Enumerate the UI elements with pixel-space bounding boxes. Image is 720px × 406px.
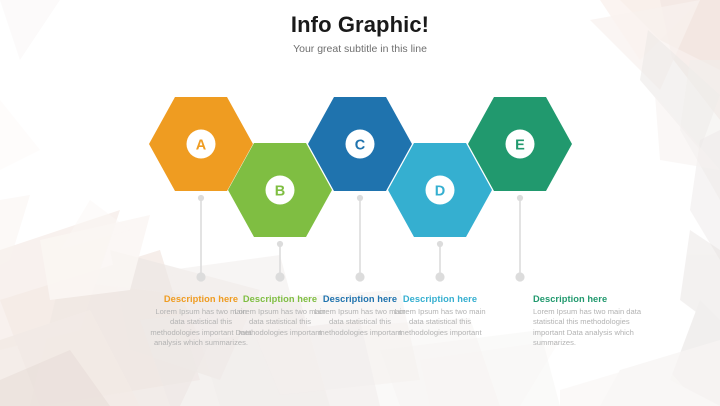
description-group: Description here Lorem Ipsum has two mai… [0, 293, 720, 373]
connector-dot-bottom-c [355, 272, 364, 281]
description-body-e: Lorem Ipsum has two main data statistica… [533, 307, 646, 349]
hex-badge-letter-b: B [275, 184, 285, 200]
hex-badge-letter-d: D [435, 184, 445, 200]
header: Info Graphic! Your great subtitle in thi… [0, 12, 720, 56]
hex-badge-letter-a: A [196, 138, 207, 154]
connector-dot-top-c [357, 195, 363, 201]
connector-dot-bottom-a [196, 272, 205, 281]
description-title-d: Description here [388, 293, 492, 305]
hex-badge-letter-c: C [355, 138, 366, 154]
connector-dot-bottom-e [515, 272, 524, 281]
description-block-e: Description here Lorem Ipsum has two mai… [533, 293, 646, 349]
connector-dot-top-a [198, 195, 204, 201]
description-block-d: Description here Lorem Ipsum has two mai… [388, 293, 492, 338]
description-title-e: Description here [533, 293, 646, 305]
hex-badge-letter-e: E [515, 138, 525, 154]
slide-canvas: Info Graphic! Your great subtitle in thi… [0, 0, 720, 406]
page-title: Info Graphic! [0, 12, 720, 38]
connector-dot-top-d [437, 241, 443, 247]
description-body-d: Lorem Ipsum has two main data statistica… [388, 307, 492, 338]
connector-dot-top-e [517, 195, 523, 201]
connector-dot-bottom-b [275, 272, 284, 281]
connector-dot-top-b [277, 241, 283, 247]
connector-dot-bottom-d [435, 272, 444, 281]
page-subtitle: Your great subtitle in this line [0, 42, 720, 56]
